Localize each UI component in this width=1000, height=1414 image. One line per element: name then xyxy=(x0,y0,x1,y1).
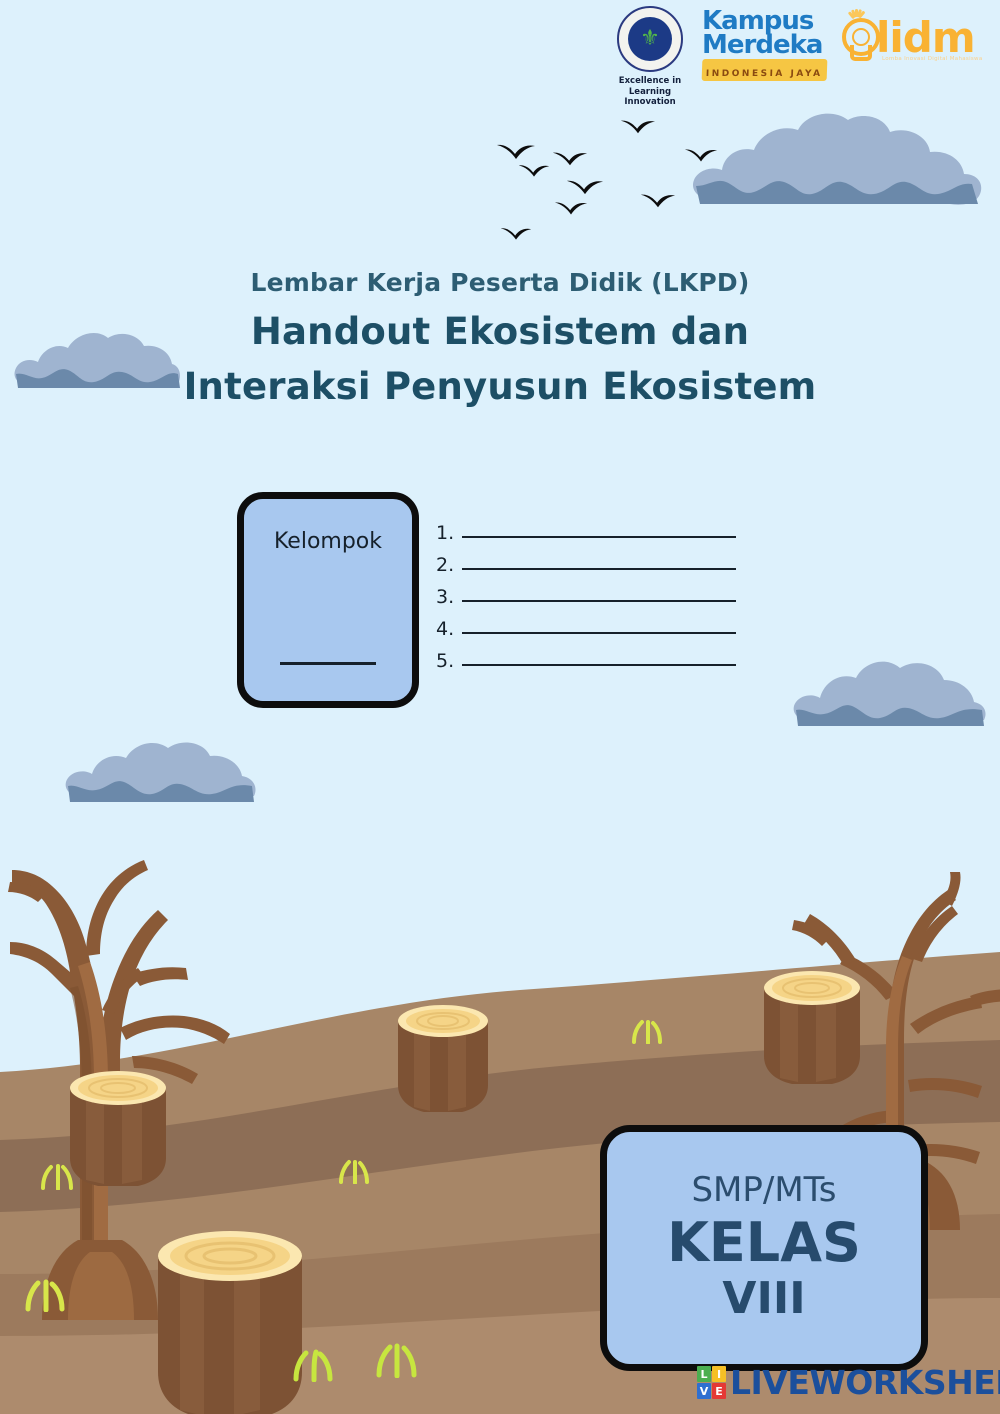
bird-silhouette xyxy=(640,192,676,210)
member-number: 3. xyxy=(436,586,462,608)
list-item[interactable]: 2. xyxy=(436,544,736,576)
um-seal-inner: ⚜ xyxy=(628,17,672,61)
grass-tuft xyxy=(334,1158,376,1184)
group-members-list: 1. 2. 3. 4. 5. xyxy=(436,512,736,672)
cloud-top-right xyxy=(686,112,986,222)
grass-tuft xyxy=(370,1342,424,1378)
lidm-logo: lidm Lomba Inovasi Digital Mahasiswa xyxy=(834,6,984,64)
lidm-wordmark: lidm xyxy=(876,19,975,57)
member-name-field[interactable] xyxy=(462,664,736,666)
worksheet-subtitle: Lembar Kerja Peserta Didik (LKPD) xyxy=(0,268,1000,297)
list-item[interactable]: 1. xyxy=(436,512,736,544)
bird-silhouette xyxy=(552,150,588,168)
kampus-merdeka-banner-text: INDONESIA JAYA xyxy=(706,68,823,78)
class-level: SMP/MTs xyxy=(691,1173,836,1207)
grass-tuft xyxy=(628,1018,668,1044)
class-label: KELAS xyxy=(667,1213,861,1273)
member-number: 4. xyxy=(436,618,462,640)
member-number: 2. xyxy=(436,554,462,576)
lightbulb-icon xyxy=(834,12,878,64)
member-number: 1. xyxy=(436,522,462,544)
bird-silhouette xyxy=(518,163,550,179)
class-badge: SMP/MTs KELAS VIII xyxy=(600,1125,928,1371)
page-title-line2: Interaksi Penyusun Ekosistem xyxy=(0,360,1000,415)
grass-tuft xyxy=(36,1162,80,1190)
class-grade: VIII xyxy=(722,1275,805,1323)
tree-stump-4 xyxy=(140,1222,320,1414)
tree-stump-3 xyxy=(752,960,872,1090)
page-title: Handout Ekosistem dan Interaksi Penyusun… xyxy=(0,305,1000,415)
bird-silhouette xyxy=(684,147,718,164)
member-number: 5. xyxy=(436,650,462,672)
member-name-field[interactable] xyxy=(462,632,736,634)
liveworksheets-watermark: L I V E LIVEWORKSHEETS xyxy=(697,1363,1000,1402)
worksheet-cover-page: ⚜ Excellence in Learning Innovation Kamp… xyxy=(0,0,1000,1414)
um-crest-icon: ⚜ xyxy=(640,28,660,50)
tile-e: E xyxy=(712,1383,726,1399)
page-title-line1: Handout Ekosistem dan xyxy=(0,305,1000,360)
cloud-mid-left xyxy=(62,728,264,816)
list-item[interactable]: 5. xyxy=(436,640,736,672)
member-name-field[interactable] xyxy=(462,536,736,538)
bird-silhouette xyxy=(620,118,656,136)
tile-i: I xyxy=(712,1366,726,1382)
kampus-merdeka-banner: INDONESIA JAYA xyxy=(702,59,827,81)
grass-tuft xyxy=(288,1348,340,1382)
member-name-field[interactable] xyxy=(462,568,736,570)
list-item[interactable]: 3. xyxy=(436,576,736,608)
liveworksheets-tiles-icon: L I V E xyxy=(697,1366,726,1399)
bird-silhouette xyxy=(566,178,604,197)
kampus-merdeka-logo: Kampus Merdeka INDONESIA JAYA xyxy=(702,6,828,81)
cloud-right xyxy=(790,650,990,740)
bird-silhouette xyxy=(500,226,532,242)
group-number-field[interactable] xyxy=(280,662,376,665)
bird-silhouette xyxy=(496,142,536,162)
tree-stump-2 xyxy=(388,995,498,1115)
kampus-merdeka-line2: Merdeka xyxy=(702,34,828,58)
grass-tuft xyxy=(20,1278,72,1312)
group-box[interactable]: Kelompok xyxy=(237,492,419,708)
tile-l: L xyxy=(697,1366,711,1382)
member-name-field[interactable] xyxy=(462,600,736,602)
liveworksheets-wordmark: LIVEWORKSHEETS xyxy=(730,1363,1000,1402)
list-item[interactable]: 4. xyxy=(436,608,736,640)
page-title-block: Lembar Kerja Peserta Didik (LKPD) Handou… xyxy=(0,268,1000,415)
um-caption-line1: Excellence in xyxy=(619,76,681,86)
um-logo: ⚜ Excellence in Learning Innovation xyxy=(604,6,696,108)
um-seal-icon: ⚜ xyxy=(617,6,683,72)
bird-silhouette xyxy=(554,200,588,217)
lidm-subtitle: Lomba Inovasi Digital Mahasiswa xyxy=(882,56,983,62)
um-caption: Excellence in Learning Innovation xyxy=(604,76,696,108)
tile-v: V xyxy=(697,1383,711,1399)
um-caption-line2: Learning Innovation xyxy=(624,87,675,108)
group-label: Kelompok xyxy=(274,529,382,554)
logo-bar: ⚜ Excellence in Learning Innovation Kamp… xyxy=(604,6,994,102)
